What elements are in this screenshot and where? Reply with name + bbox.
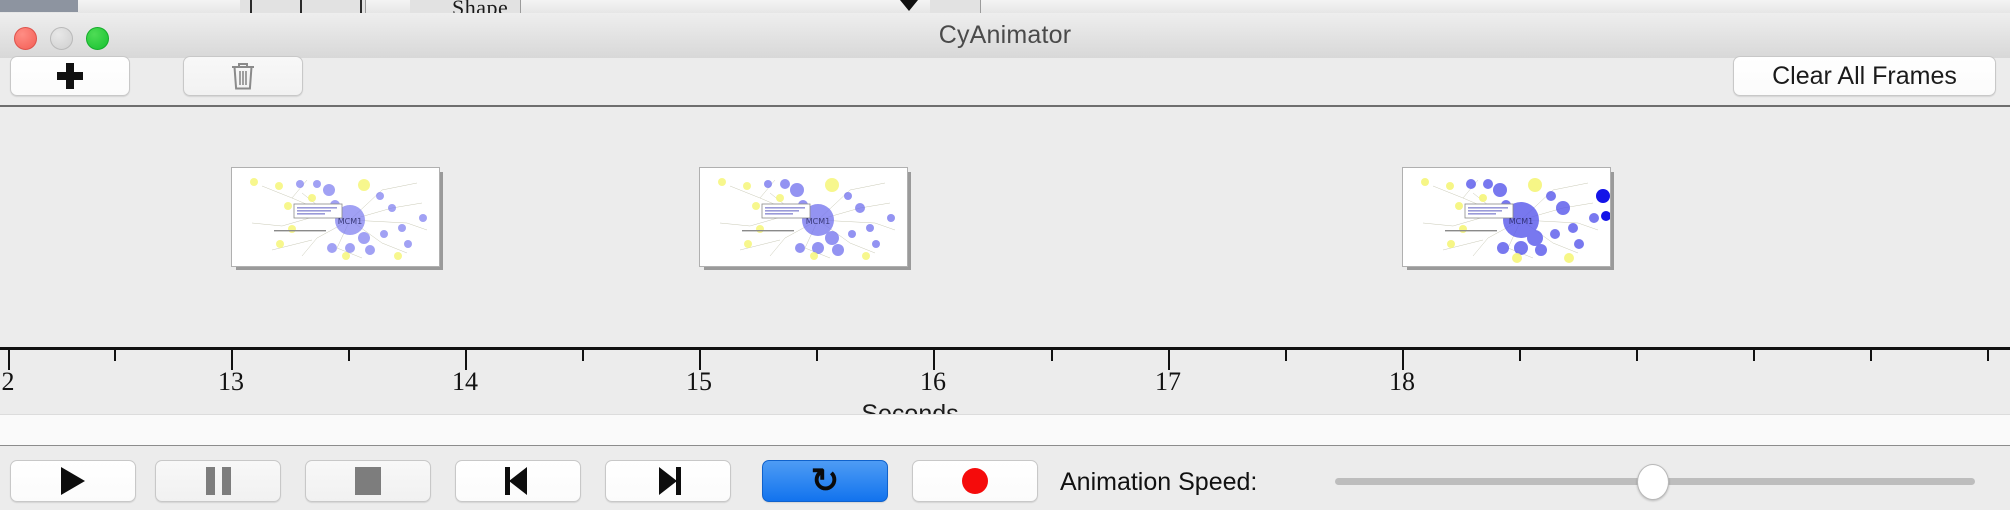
- pause-button[interactable]: [155, 460, 281, 502]
- cyanimator-window: Shape CyAnimator Clear All Frames: [0, 0, 2010, 510]
- axis-tick-minor: [114, 350, 116, 361]
- axis-tick-minor: [816, 350, 818, 361]
- axis-tick-minor: [1636, 350, 1638, 361]
- axis-tick-minor: [348, 350, 350, 361]
- axis-tick-label: 15: [686, 367, 712, 397]
- add-frame-button[interactable]: [10, 56, 130, 96]
- skip-end-button[interactable]: [605, 460, 731, 502]
- axis-tick-label: 14: [452, 367, 478, 397]
- window-title: CyAnimator: [939, 21, 1072, 50]
- timeline-frame-3[interactable]: MCM1: [1402, 167, 1612, 267]
- background-window-panel-a: [240, 0, 366, 13]
- axis-tick-minor: [1285, 350, 1287, 361]
- svg-text:MCM1: MCM1: [806, 217, 830, 226]
- title-bar: CyAnimator: [0, 13, 2010, 59]
- background-tick-1: [250, 0, 252, 13]
- axis-tick-minor: [1870, 350, 1872, 361]
- delete-frame-button[interactable]: [183, 56, 303, 96]
- play-icon: [61, 467, 85, 495]
- skip-start-button[interactable]: [455, 460, 581, 502]
- axis-tick-minor: [1519, 350, 1521, 361]
- axis-tick-label: 17: [1155, 367, 1181, 397]
- record-icon: [962, 468, 988, 494]
- trash-icon: [230, 61, 256, 91]
- record-button[interactable]: [912, 460, 1038, 502]
- background-cursor-arrow: [900, 0, 918, 11]
- timeline-axis: [0, 347, 2010, 350]
- minimize-button[interactable]: [50, 27, 73, 50]
- zoom-button[interactable]: [86, 27, 109, 50]
- clear-all-frames-label: Clear All Frames: [1772, 62, 1957, 91]
- timeline-frame-2[interactable]: MCM1: [699, 167, 909, 267]
- timeline-frame-1[interactable]: MCM1: [231, 167, 441, 267]
- stop-button[interactable]: [305, 460, 431, 502]
- traffic-light-group: [14, 27, 109, 50]
- frame-thumbnail: MCM1: [231, 167, 440, 267]
- plus-icon: [57, 63, 83, 89]
- timeline-panel[interactable]: MCM1: [0, 107, 2010, 414]
- axis-tick-minor: [1753, 350, 1755, 361]
- background-window-titlebar-chunk: [0, 0, 78, 12]
- axis-title: Seconds: [0, 400, 2010, 414]
- background-window-panel-c: [930, 0, 981, 13]
- pause-icon: [206, 467, 231, 495]
- background-tick-2: [300, 0, 302, 13]
- axis-tick-label: 13: [218, 367, 244, 397]
- axis-tick-label: 16: [920, 367, 946, 397]
- frame-thumbnail: MCM1: [699, 167, 908, 267]
- play-button[interactable]: [10, 460, 136, 502]
- clear-all-frames-button[interactable]: Clear All Frames: [1733, 56, 1996, 96]
- timeline-scrollbar[interactable]: [0, 414, 2010, 447]
- stop-icon: [355, 467, 381, 495]
- axis-tick-minor: [582, 350, 584, 361]
- background-window-strip: Shape: [0, 0, 2010, 14]
- animation-speed-slider-thumb[interactable]: [1637, 464, 1669, 500]
- axis-tick-label: 2: [2, 367, 15, 397]
- close-button[interactable]: [14, 27, 37, 50]
- skip-end-icon: [655, 467, 681, 495]
- svg-text:MCM1: MCM1: [338, 217, 362, 226]
- axis-tick-minor: [1051, 350, 1053, 361]
- skip-start-icon: [505, 467, 531, 495]
- frame-thumbnail: MCM1: [1402, 167, 1611, 267]
- svg-text:MCM1: MCM1: [1509, 217, 1533, 226]
- loop-icon: ↻: [811, 464, 840, 498]
- axis-title-label: Seconds: [861, 400, 958, 414]
- animation-speed-label: Animation Speed:: [1060, 468, 1257, 497]
- background-shape-label: Shape: [452, 0, 508, 14]
- background-tick-3: [360, 0, 362, 13]
- axis-tick-label: 18: [1389, 367, 1415, 397]
- axis-tick-minor: [1987, 350, 1989, 361]
- loop-button[interactable]: ↻: [762, 460, 888, 502]
